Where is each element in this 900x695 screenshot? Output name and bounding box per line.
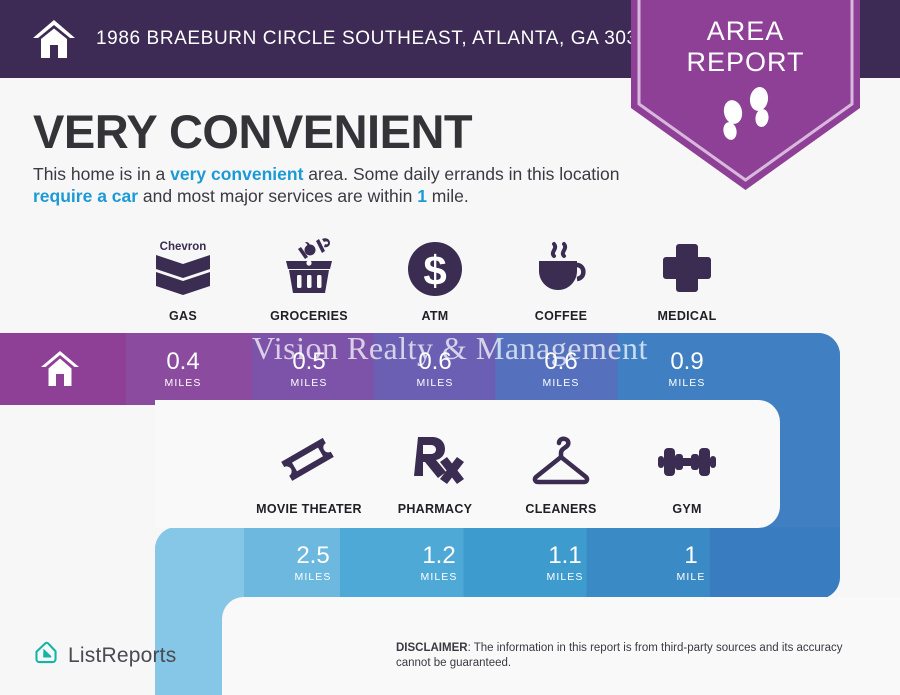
amenity-pharmacy: PHARMACY [372,429,498,516]
home-icon [30,15,78,63]
page-title: VERY CONVENIENT [33,104,472,159]
summary-highlight-2: require a car [33,186,138,206]
distance-unit: MILES [416,377,453,389]
distance-cell: 0.5 MILES [246,333,372,405]
distance-value: 1.2 [422,543,455,569]
badge-line-2: REPORT [686,47,804,77]
amenity-label: ATM [421,309,448,323]
distance-unit: MILES [420,571,457,583]
distance-value: 0.6 [544,349,577,375]
badge-label: AREA REPORT [631,16,860,78]
amenity-cleaners: CLEANERS [498,429,624,516]
amenity-movie-theater: MOVIE THEATER [246,429,372,516]
amenity-label: GROCERIES [270,309,348,323]
summary-part-1: This home is in a [33,164,170,184]
summary-part-4: mile. [427,186,469,206]
amenity-label: CLEANERS [525,502,596,516]
distance-value: 2.5 [296,543,329,569]
distance-cell: 1 MILE [628,527,754,599]
amenity-label: COFFEE [535,309,588,323]
svg-text:$: $ [423,247,446,294]
amenity-label: PHARMACY [398,502,473,516]
amenity-coffee: COFFEE [498,236,624,323]
amenity-label: GAS [169,309,197,323]
dollar-circle-icon: $ [404,236,466,298]
shopping-basket-icon [278,236,340,298]
distance-value: 0.4 [166,349,199,375]
distance-unit: MILES [290,377,327,389]
distance-unit: MILES [294,571,331,583]
listreports-logo[interactable]: ListReports [33,640,176,671]
distance-cell: 1.1 MILES [502,527,628,599]
summary-part-2: area. Some daily errands in this locatio… [303,164,619,184]
distance-unit: MILES [546,571,583,583]
distance-value: 1 [684,543,697,569]
home-icon [0,333,120,405]
summary-highlight-1: very convenient [170,164,303,184]
distance-cell: 0.6 MILES [498,333,624,405]
distance-value: 0.6 [418,349,451,375]
listreports-label: ListReports [68,644,176,668]
area-report-page: 1986 BRAEBURN CIRCLE SOUTHEAST, ATLANTA,… [0,0,900,695]
distance-bar-row-1: 0.4 MILES 0.5 MILES 0.6 MILES 0.6 MILES … [0,333,840,405]
amenity-icon-row-1: Chevron GAS [120,236,750,323]
clothes-hanger-icon [530,429,592,491]
distance-cell: 2.5 MILES [250,527,376,599]
amenity-icon-row-2: MOVIE THEATER PHARMACY [246,429,750,516]
amenity-label: MEDICAL [657,309,716,323]
area-report-badge: AREA REPORT [631,0,860,190]
chevron-gas-logo-icon: Chevron [152,236,214,298]
amenity-gym: GYM [624,429,750,516]
distance-bar-row-2: 2.5 MILES 1.2 MILES 1.1 MILES 1 MILE [155,527,840,599]
medical-cross-icon [656,236,718,298]
distance-unit: MILES [164,377,201,389]
distance-unit: MILES [542,377,579,389]
listreports-house-icon [33,640,59,671]
distance-cell: 0.9 MILES [624,333,750,405]
amenity-medical: MEDICAL [624,236,750,323]
distance-cell: 0.4 MILES [120,333,246,405]
amenity-groceries: GROCERIES [246,236,372,323]
movie-ticket-icon [278,429,340,491]
distance-unit: MILES [668,377,705,389]
rx-icon [404,429,466,491]
property-address: 1986 BRAEBURN CIRCLE SOUTHEAST, ATLANTA,… [96,28,660,50]
summary-highlight-3: 1 [417,186,427,206]
svg-text:Chevron: Chevron [160,241,207,253]
coffee-cup-icon [530,236,592,298]
badge-line-1: AREA [707,16,785,46]
amenity-atm: $ ATM [372,236,498,323]
distance-value: 1.1 [548,543,581,569]
dumbbell-icon [656,429,718,491]
distance-cell: 0.6 MILES [372,333,498,405]
disclaimer-label: DISCLAIMER [396,642,468,654]
summary-text: This home is in a very convenient area. … [33,163,633,207]
distance-value: 0.5 [292,349,325,375]
amenity-gas: Chevron GAS [120,236,246,323]
amenity-label: MOVIE THEATER [256,502,362,516]
disclaimer: DISCLAIMER: The information in this repo… [396,641,866,670]
distance-unit: MILE [677,571,706,583]
distance-cell: 1.2 MILES [376,527,502,599]
summary-part-3: and most major services are within [138,186,417,206]
distance-value: 0.9 [670,349,703,375]
amenity-label: GYM [672,502,701,516]
